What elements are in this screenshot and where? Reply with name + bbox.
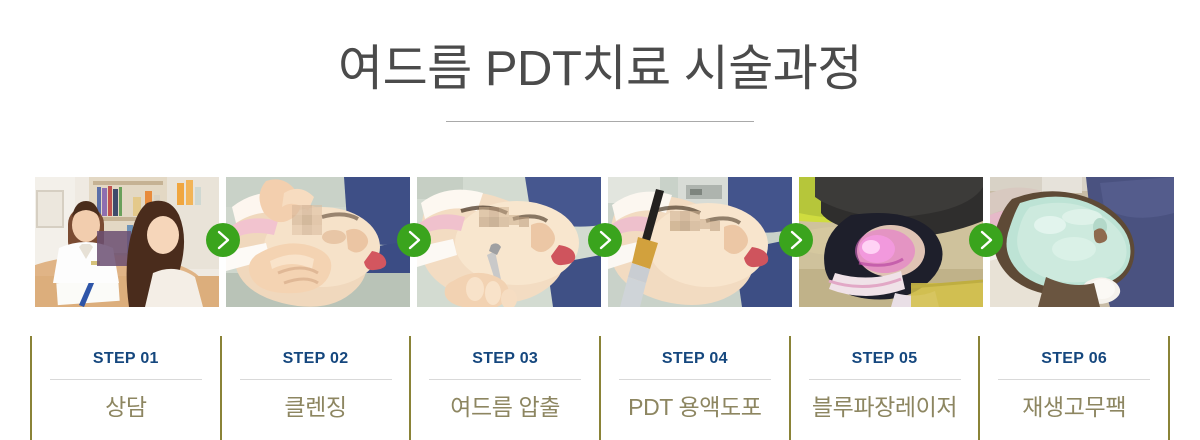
step-number: STEP 02 (222, 349, 410, 369)
step-number: STEP 05 (791, 349, 979, 369)
step-number: STEP 03 (411, 349, 599, 369)
process-step-list: STEP 01 상담 STEP 02 클렌징 STEP 03 여드름 압출 ST… (30, 336, 1170, 440)
process-photo-2 (226, 177, 410, 307)
arrow-3-4 (588, 223, 622, 257)
step-label: PDT 용액도포 (601, 392, 789, 422)
chevron-right-icon (598, 230, 613, 250)
process-step-2: STEP 02 클렌징 (220, 336, 410, 440)
arrow-2-3 (397, 223, 431, 257)
step-divider-line (240, 379, 392, 380)
pdt-treatment-process-section: 여드름 PDT치료 시술과정 (0, 0, 1200, 440)
chevron-right-icon (979, 230, 994, 250)
step-label: 재생고무팩 (980, 392, 1168, 422)
process-step-4: STEP 04 PDT 용액도포 (599, 336, 789, 440)
step-divider-line (50, 379, 202, 380)
step-label: 상담 (32, 392, 220, 422)
process-photo-3 (417, 177, 601, 307)
step-number: STEP 06 (980, 349, 1168, 369)
page-title: 여드름 PDT치료 시술과정 (0, 38, 1200, 100)
chevron-right-icon (789, 230, 804, 250)
process-photo-5 (799, 177, 983, 307)
process-step-5: STEP 05 블루파장레이저 (789, 336, 979, 440)
section-header: 여드름 PDT치료 시술과정 (0, 38, 1200, 122)
title-divider (446, 121, 754, 122)
process-photo-6 (990, 177, 1174, 307)
step-divider-line (998, 379, 1150, 380)
step-divider-line (429, 379, 581, 380)
process-step-1: STEP 01 상담 (30, 336, 220, 440)
process-step-6: STEP 06 재생고무팩 (978, 336, 1170, 440)
chevron-right-icon (407, 230, 422, 250)
process-photo-1 (35, 177, 219, 307)
step-label: 클렌징 (222, 392, 410, 422)
step-label: 여드름 압출 (411, 392, 599, 422)
chevron-right-icon (216, 230, 231, 250)
arrow-4-5 (779, 223, 813, 257)
process-step-3: STEP 03 여드름 압출 (409, 336, 599, 440)
arrow-5-6 (969, 223, 1003, 257)
arrow-1-2 (206, 223, 240, 257)
step-label: 블루파장레이저 (791, 392, 979, 422)
step-number: STEP 04 (601, 349, 789, 369)
step-divider-line (809, 379, 961, 380)
process-photo-strip (35, 177, 1165, 307)
process-photo-4 (608, 177, 792, 307)
step-number: STEP 01 (32, 349, 220, 369)
step-divider-line (619, 379, 771, 380)
